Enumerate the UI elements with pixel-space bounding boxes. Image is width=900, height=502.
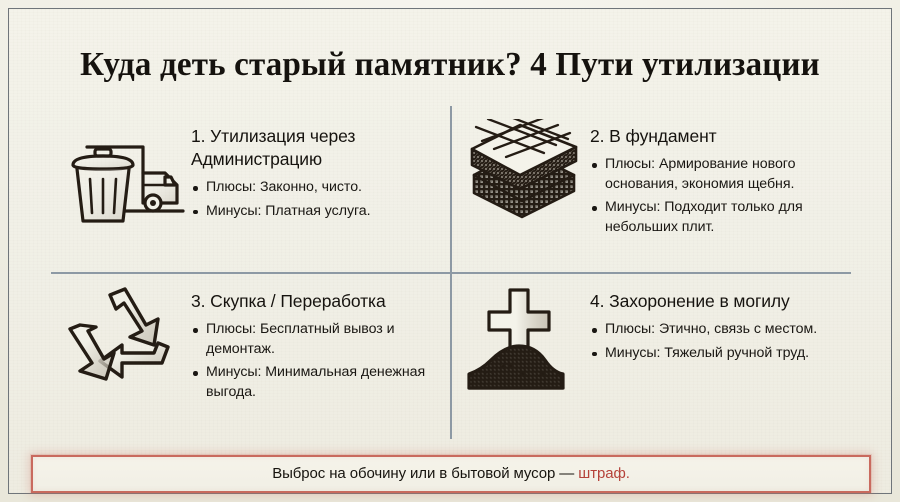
- quadrant-4: 4. Захоронение в могилу Плюсы: Этично, с…: [450, 272, 849, 437]
- recycling-symbol-icon: [59, 278, 191, 402]
- quadrant-4-heading: 4. Захоронение в могилу: [590, 290, 841, 313]
- quadrant-2-bullets: Плюсы: Армирование нового основания, эко…: [590, 155, 841, 237]
- list-item: Минусы: Подходит только для небольших пл…: [590, 198, 841, 237]
- page-title: Куда деть старый памятник? 4 Пути утилиз…: [22, 45, 878, 85]
- list-item: Плюсы: Законно, чисто.: [191, 178, 442, 198]
- quadrant-3: 3. Скупка / Переработка Плюсы: Бесплатны…: [51, 272, 450, 437]
- quadrant-1-bullets: Плюсы: Законно, чисто. Минусы: Платная у…: [191, 178, 442, 221]
- trash-bin-truck-icon: [59, 113, 191, 237]
- infographic-page: Куда деть старый памятник? 4 Пути утилиз…: [0, 0, 900, 502]
- quadrant-2: 2. В фундамент Плюсы: Армирование нового…: [450, 107, 849, 272]
- list-item: Плюсы: Армирование нового основания, эко…: [590, 155, 841, 194]
- infographic-card: Куда деть старый памятник? 4 Пути утилиз…: [8, 8, 892, 494]
- quadrant-4-bullets: Плюсы: Этично, связь с местом. Минусы: Т…: [590, 320, 841, 363]
- quadrant-3-bullets: Плюсы: Бесплатный вывоз и демонтаж. Мину…: [191, 320, 442, 402]
- foundation-slab-rebar-icon: [458, 113, 590, 237]
- warning-banner: Выброс на обочину или в бытовой мусор — …: [31, 455, 871, 493]
- quadrant-grid: 1. Утилизация через Администрацию Плюсы:…: [51, 107, 851, 437]
- list-item: Плюсы: Бесплатный вывоз и демонтаж.: [191, 320, 442, 359]
- list-item: Минусы: Платная услуга.: [191, 202, 442, 222]
- list-item: Минусы: Тяжелый ручной труд.: [590, 344, 841, 364]
- quadrant-2-text: 2. В фундамент Плюсы: Армирование нового…: [590, 113, 841, 241]
- quadrant-1-heading: 1. Утилизация через Администрацию: [191, 125, 442, 171]
- warning-banner-accent: штраф.: [578, 465, 630, 482]
- quadrant-3-heading: 3. Скупка / Переработка: [191, 290, 442, 313]
- quadrant-2-heading: 2. В фундамент: [590, 125, 841, 148]
- list-item: Плюсы: Этично, связь с местом.: [590, 320, 841, 340]
- quadrant-1: 1. Утилизация через Администрацию Плюсы:…: [51, 107, 450, 272]
- quadrant-1-text: 1. Утилизация через Администрацию Плюсы:…: [191, 113, 442, 225]
- list-item: Минусы: Минимальная денежная выгода.: [191, 363, 442, 402]
- quadrant-3-text: 3. Скупка / Переработка Плюсы: Бесплатны…: [191, 278, 442, 406]
- warning-banner-lead: Выброс на обочину или в бытовой мусор —: [272, 465, 578, 482]
- grave-cross-mound-icon: [458, 278, 590, 402]
- warning-banner-text: Выброс на обочину или в бытовой мусор — …: [272, 465, 630, 483]
- quadrant-4-text: 4. Захоронение в могилу Плюсы: Этично, с…: [590, 278, 841, 367]
